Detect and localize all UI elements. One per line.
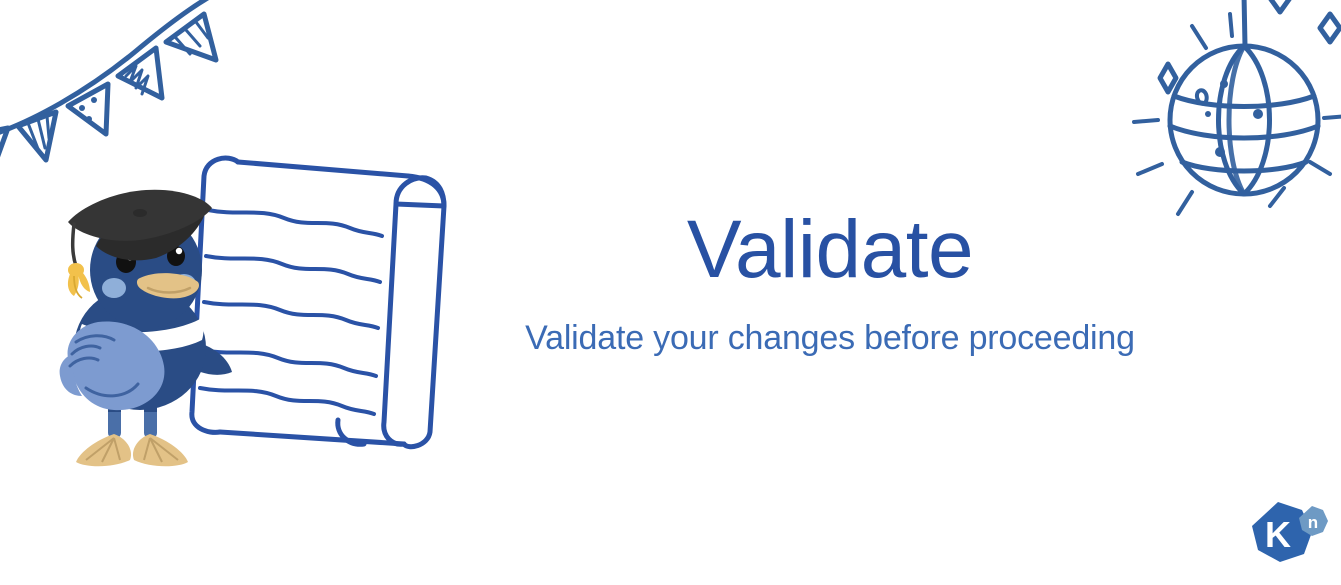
slide-canvas: Validate Validate your changes before pr… xyxy=(0,0,1341,585)
logo-letter-k: K xyxy=(1265,514,1291,555)
konveyor-logo[interactable]: K n xyxy=(1248,500,1332,572)
page-title: Validate xyxy=(470,208,1190,292)
logo-letter-n: n xyxy=(1308,513,1318,532)
hero-section: Validate Validate your changes before pr… xyxy=(0,0,1341,585)
page-subtitle: Validate your changes before proceeding xyxy=(470,318,1190,359)
